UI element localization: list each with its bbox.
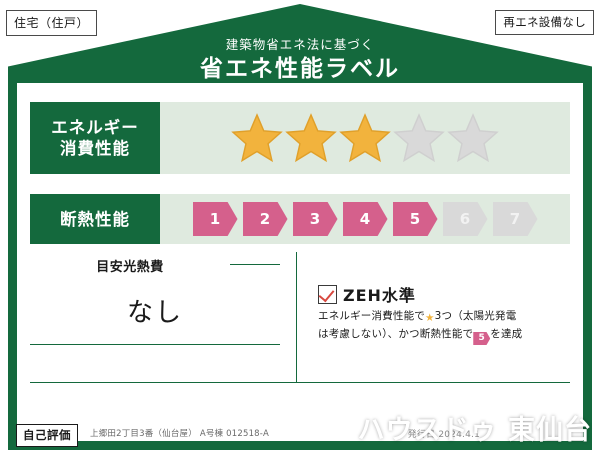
insulation-grade-list: 1234567 [193,202,538,236]
footer-divider [30,382,570,383]
energy-performance-label-box: エネルギー 消費性能 [30,102,160,174]
star-filled-icon [231,113,283,163]
vertical-divider [296,252,297,382]
insulation-grade-7: 7 [493,202,538,236]
insulation-grade-1: 1 [193,202,238,236]
star-filled-icon [339,113,391,163]
watermark-company: ハウスドゥ 東仙台 [330,408,592,447]
header-title: 省エネ性能ラベル [0,54,600,84]
property-address: 上郷田2丁目3番（仙台屋） A号棟 012518-A [90,427,269,439]
insulation-grade-5: 5 [393,202,438,236]
star-filled-icon: ★ [425,310,435,326]
insulation-label: 断熱性能 [60,209,130,230]
energy-label-line1: エネルギー [51,117,139,138]
header-subtitle: 建築物省エネ法に基づく [0,38,600,52]
zeh-desc-line1: エネルギー消費性能で★3つ（太陽光発電 [318,308,570,326]
zeh-header: ZEH水準 [318,282,416,306]
self-evaluation-badge: 自己評価 [16,424,78,447]
cost-title: 目安光熱費 [30,256,230,275]
star-empty-icon [393,113,445,163]
insulation-label-box: 断熱性能 [30,194,160,244]
energy-label-line2: 消費性能 [60,138,130,159]
tag-building-type: 住宅（住戸） [6,10,97,36]
tag-renewable-energy: 再エネ設備なし [495,10,594,35]
insulation-grade-badge: 5 [473,332,490,345]
header-block: 建築物省エネ法に基づく 省エネ性能ラベル [0,38,600,84]
zeh-description: エネルギー消費性能で★3つ（太陽光発電は考慮しない）、かつ断熱性能で5を達成 [318,308,570,345]
cost-bottom-divider [30,344,280,345]
insulation-grade-6: 6 [443,202,488,236]
insulation-grades-area: 1234567 [160,194,570,244]
energy-stars-area [160,102,570,174]
check-icon [318,285,337,304]
star-filled-icon [285,113,337,163]
insulation-performance-row: 断熱性能 1234567 [30,194,570,244]
zeh-desc-line2: は考慮しない）、かつ断熱性能で5を達成 [318,326,570,345]
insulation-grade-2: 2 [243,202,288,236]
zeh-title: ZEH水準 [343,282,416,306]
star-rating [231,113,499,163]
insulation-grade-3: 3 [293,202,338,236]
energy-performance-label: 住宅（住戸） 再エネ設備なし 建築物省エネ法に基づく 省エネ性能ラベル エネルギ… [0,0,600,458]
insulation-grade-4: 4 [343,202,388,236]
cost-value: なし [30,292,280,329]
star-empty-icon [447,113,499,163]
energy-performance-row: エネルギー 消費性能 [30,102,570,174]
